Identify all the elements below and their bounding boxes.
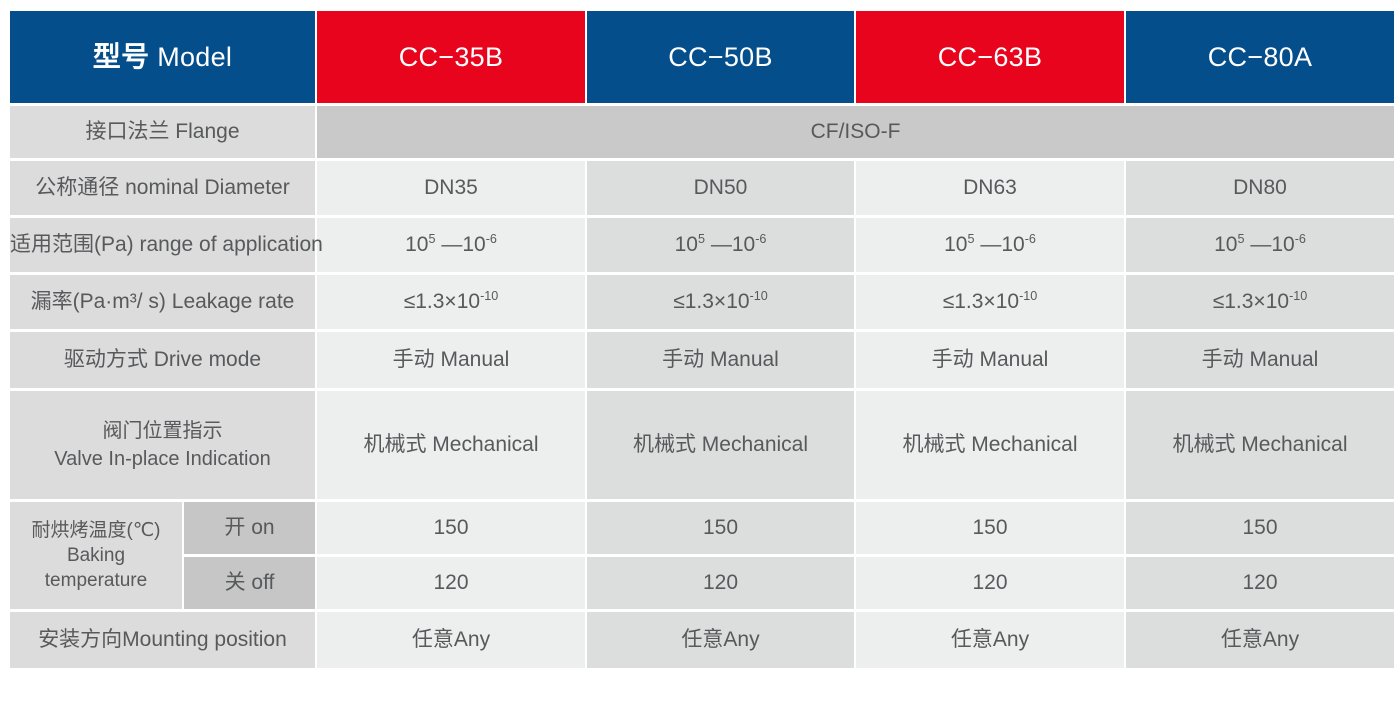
range-base2: 10 [1271,233,1294,256]
range-dash: — [1244,233,1271,256]
cell-baking-on-cc-35b: 150 [317,502,585,554]
cell-baking-off-cc-63b: 120 [856,557,1124,609]
cell-mounting-cc-80a: 任意Any [1126,612,1394,668]
cell-range-cc-63b: 105 —10-6 [856,218,1124,272]
range-sup2: -6 [755,232,766,246]
range-base2: 10 [462,233,485,256]
range-sup2: -6 [486,232,497,246]
row-label-leakage-rate: 漏率(Pa·m³/ s) Leakage rate [10,275,315,329]
range-base1: 10 [675,233,698,256]
cell-nominal-diameter-cc-80a: DN80 [1126,161,1394,215]
cell-indication-cc-80a: 机械式 Mechanical [1126,391,1394,499]
range-base2: 10 [732,233,755,256]
cell-mounting-cc-35b: 任意Any [317,612,585,668]
cell-range-cc-50b: 105 —10-6 [587,218,854,272]
cell-baking-off-cc-35b: 120 [317,557,585,609]
leak-base: ≤1.3×10 [673,290,749,313]
table-row-flange: 接口法兰 Flange CF/ISO-F [10,106,1394,158]
header-model-cc-35b: CC−35B [317,11,585,103]
sub-label-close-off: 关 off [184,557,315,609]
cell-drive-cc-35b: 手动 Manual [317,332,585,388]
leak-base: ≤1.3×10 [1213,290,1289,313]
range-base1: 10 [944,233,967,256]
range-sup2: -6 [1025,232,1036,246]
cell-baking-on-cc-50b: 150 [587,502,854,554]
sub-label-open-on: 开 on [184,502,315,554]
cell-leakage-cc-35b: ≤1.3×10-10 [317,275,585,329]
range-dash: — [435,233,462,256]
leak-base: ≤1.3×10 [404,290,480,313]
cell-baking-on-cc-80a: 150 [1126,502,1394,554]
cell-nominal-diameter-cc-35b: DN35 [317,161,585,215]
cell-mounting-cc-50b: 任意Any [587,612,854,668]
header-model-label: 型号 Model [10,11,315,103]
range-base2: 10 [1001,233,1024,256]
cell-drive-cc-80a: 手动 Manual [1126,332,1394,388]
range-base1: 10 [405,233,428,256]
spec-table-sheet: 型号 Model CC−35B CC−50B CC−63B CC−80A 接口法… [0,0,1400,703]
cell-baking-off-cc-50b: 120 [587,557,854,609]
leak-sup: -10 [750,289,768,303]
product-specification-table: 型号 Model CC−35B CC−50B CC−63B CC−80A 接口法… [8,8,1396,671]
cell-range-cc-35b: 105 —10-6 [317,218,585,272]
range-base1: 10 [1214,233,1237,256]
header-model-cc-50b: CC−50B [587,11,854,103]
cell-drive-cc-50b: 手动 Manual [587,332,854,388]
cell-nominal-diameter-cc-50b: DN50 [587,161,854,215]
row-label-range-of-application: 适用范围(Pa) range of application [10,218,315,272]
header-model-label-zh: 型号 [93,41,150,72]
range-dash: — [705,233,732,256]
row-label-drive-mode: 驱动方式 Drive mode [10,332,315,388]
cell-range-cc-80a: 105 —10-6 [1126,218,1394,272]
row-label-mounting-position: 安装方向Mounting position [10,612,315,668]
table-row-range-of-application: 适用范围(Pa) range of application 105 —10-6 … [10,218,1394,272]
cell-leakage-cc-63b: ≤1.3×10-10 [856,275,1124,329]
cell-mounting-cc-63b: 任意Any [856,612,1124,668]
table-row-valve-indication: 阀门位置指示 Valve In-place Indication 机械式 Mec… [10,391,1394,499]
leak-base: ≤1.3×10 [943,290,1019,313]
table-row-drive-mode: 驱动方式 Drive mode 手动 Manual 手动 Manual 手动 M… [10,332,1394,388]
leak-sup: -10 [1289,289,1307,303]
baking-label-line2: Baking [10,543,182,568]
row-label-valve-indication: 阀门位置指示 Valve In-place Indication [10,391,315,499]
cell-drive-cc-63b: 手动 Manual [856,332,1124,388]
header-model-cc-63b: CC−63B [856,11,1124,103]
cell-leakage-cc-80a: ≤1.3×10-10 [1126,275,1394,329]
table-row-baking-on: 耐烘烤温度(℃) Baking temperature 开 on 150 150… [10,502,1394,554]
cell-flange-merged: CF/ISO-F [317,106,1394,158]
leak-sup: -10 [1019,289,1037,303]
table-row-nominal-diameter: 公称通径 nominal Diameter DN35 DN50 DN63 DN8… [10,161,1394,215]
baking-label-line1: 耐烘烤温度(℃) [10,518,182,543]
table-header-row: 型号 Model CC−35B CC−50B CC−63B CC−80A [10,11,1394,103]
table-row-mounting-position: 安装方向Mounting position 任意Any 任意Any 任意Any … [10,612,1394,668]
cell-leakage-cc-50b: ≤1.3×10-10 [587,275,854,329]
cell-baking-off-cc-80a: 120 [1126,557,1394,609]
cell-nominal-diameter-cc-63b: DN63 [856,161,1124,215]
header-model-label-en: Model [157,42,232,72]
cell-baking-on-cc-63b: 150 [856,502,1124,554]
header-model-cc-80a: CC−80A [1126,11,1394,103]
cell-indication-cc-35b: 机械式 Mechanical [317,391,585,499]
cell-indication-cc-63b: 机械式 Mechanical [856,391,1124,499]
baking-label-line3: temperature [10,568,182,593]
row-label-baking-temperature: 耐烘烤温度(℃) Baking temperature [10,502,182,609]
cell-indication-cc-50b: 机械式 Mechanical [587,391,854,499]
row-label-valve-indication-en: Valve In-place Indication [10,445,315,473]
row-label-valve-indication-zh: 阀门位置指示 [10,417,315,445]
table-row-baking-off: 关 off 120 120 120 120 [10,557,1394,609]
row-label-nominal-diameter: 公称通径 nominal Diameter [10,161,315,215]
leak-sup: -10 [480,289,498,303]
row-label-flange: 接口法兰 Flange [10,106,315,158]
range-sup1: 5 [698,232,705,246]
range-dash: — [974,233,1001,256]
range-sup2: -6 [1295,232,1306,246]
table-row-leakage-rate: 漏率(Pa·m³/ s) Leakage rate ≤1.3×10-10 ≤1.… [10,275,1394,329]
